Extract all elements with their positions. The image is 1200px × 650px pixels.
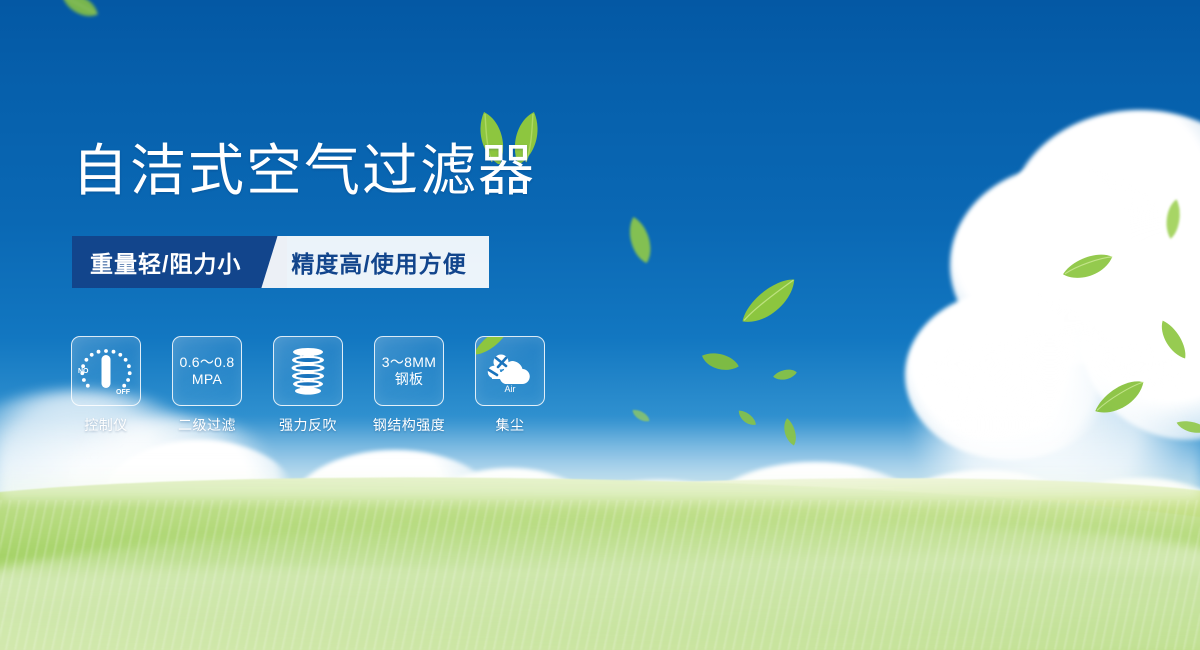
cloud-air-icon: Air	[484, 349, 536, 393]
feature-icon-box: 0.6～0.8 MPA	[172, 336, 242, 406]
feature-item-steel[interactable]: 3～8MM 钢板 钢结构强度	[375, 336, 443, 435]
feature-label: 二级过滤	[178, 415, 236, 435]
feature-list: NO OFF 控制仪 0.6～0.8 MPA 二级过滤	[72, 336, 544, 435]
feature-label: 控制仪	[84, 415, 128, 435]
banner-content: 自洁式空气过滤器 重量轻/阻力小 精度高/使用方便	[0, 0, 1200, 650]
feature-item-filtration[interactable]: 0.6～0.8 MPA 二级过滤	[173, 336, 241, 435]
feature-icon-box: NO OFF	[71, 336, 141, 406]
subtitle-primary: 重量轻/阻力小	[72, 236, 261, 288]
subtitle-bar: 重量轻/阻力小 精度高/使用方便	[72, 236, 489, 288]
control-dial-icon: NO OFF	[75, 342, 137, 400]
feature-label: 集尘	[496, 415, 525, 435]
dial-off-label: OFF	[116, 389, 131, 396]
feature-icon-box: 3～8MM 钢板	[374, 336, 444, 406]
pleated-filter-icon	[285, 345, 331, 397]
feature-text-line1: 0.6～0.8	[179, 354, 234, 371]
feature-label: 强力反吹	[279, 415, 337, 435]
feature-icon-box	[273, 336, 343, 406]
feature-text-line2: 钢板	[382, 371, 436, 388]
feature-item-dust[interactable]: Air 集尘	[476, 336, 544, 435]
feature-icon-box: Air	[475, 336, 545, 406]
steel-plate-text-icon: 3～8MM 钢板	[382, 354, 436, 388]
feature-text-line1: 3～8MM	[382, 354, 436, 371]
air-label: Air	[505, 384, 516, 393]
subtitle-secondary: 精度高/使用方便	[287, 236, 488, 288]
subtitle-divider	[261, 236, 287, 288]
product-banner: 自洁式空气过滤器 重量轻/阻力小 精度高/使用方便	[0, 0, 1200, 650]
feature-item-backblow[interactable]: 强力反吹	[274, 336, 342, 435]
dial-on-label: NO	[78, 368, 89, 375]
pressure-text-icon: 0.6～0.8 MPA	[179, 354, 234, 388]
page-title: 自洁式空气过滤器	[72, 143, 536, 199]
feature-item-control[interactable]: NO OFF 控制仪	[72, 336, 140, 435]
feature-label: 钢结构强度	[373, 415, 446, 435]
feature-text-line2: MPA	[179, 371, 234, 388]
